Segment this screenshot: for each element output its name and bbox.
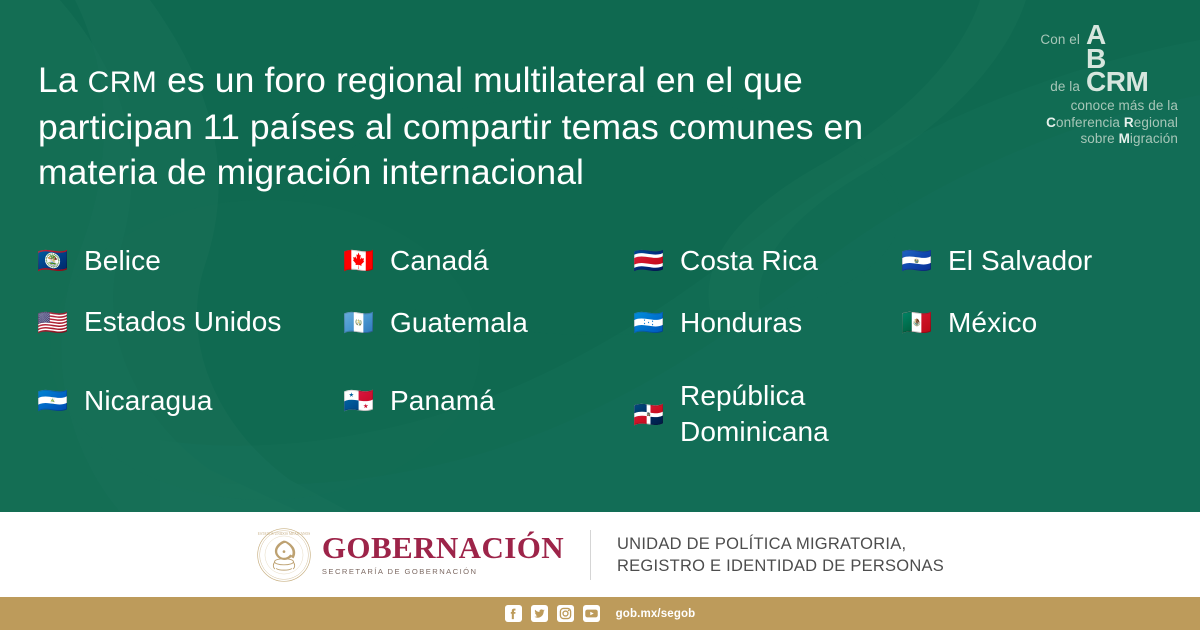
gobernacion-subtitle: SECRETARÍA DE GOBERNACIÓN [322,567,564,577]
flag-dominican-republic-icon: 🇩🇴 [630,402,668,427]
country-row-3: 🇳🇮 Nicaragua 🇵🇦 Panamá 🇩🇴 República Domi… [34,378,1174,458]
mexican-national-seal-icon: ESTADOS UNIDOS MEXICANOS [256,527,312,583]
footer-inner: ESTADOS UNIDOS MEXICANOS GOBERNACIÓN SEC… [256,527,944,583]
flag-el-salvador-icon: 🇸🇻 [898,248,936,273]
abc-crm-logo: Con el A B de la CRM conoce más de la Co… [982,22,1178,148]
headline-crm-acronym: CRM [88,66,158,99]
facebook-icon[interactable] [505,605,522,622]
unit-line-2: REGISTRO E IDENTIDAD DE PERSONAS [617,555,944,577]
abc-logo-tail: conoce más de la Conferencia Regional so… [982,98,1178,148]
abc-tail-initial-r: R [1124,115,1134,130]
country-item-belice: 🇧🇿 Belice [34,238,340,282]
abc-tail-egional: egional [1134,115,1178,130]
flag-nicaragua-icon: 🇳🇮 [34,388,72,413]
footer-bar: ESTADOS UNIDOS MEXICANOS GOBERNACIÓN SEC… [0,512,1200,597]
headline-line1-pre: La [38,60,88,100]
country-label-panama: Panamá [390,384,495,417]
youtube-icon[interactable] [583,605,600,622]
flag-canada-icon: 🇨🇦 [340,248,378,273]
country-item-guatemala: 🇬🇹 Guatemala [340,300,630,344]
abc-logo-row-2: B [982,46,1178,71]
flag-costa-rica-icon: 🇨🇷 [630,248,668,273]
poster-root: La CRM es un foro regional multilateral … [0,0,1200,630]
abc-logo-de-la: de la [1050,79,1080,95]
country-label-el-salvador: El Salvador [948,244,1092,277]
abc-tail-line-2: Conferencia Regional [982,115,1178,132]
country-label-republica-dominicana: República Dominicana [680,378,870,450]
unit-name: UNIDAD DE POLÍTICA MIGRATORIA, REGISTRO … [591,533,944,577]
abc-logo-letters-crm: CRM [1086,69,1178,94]
participating-countries-grid: 🇧🇿 Belice 🇨🇦 Canadá 🇨🇷 Costa Rica 🇸🇻 El … [34,238,1174,458]
country-label-honduras: Honduras [680,306,802,339]
flag-honduras-icon: 🇭🇳 [630,310,668,335]
country-item-canada: 🇨🇦 Canadá [340,238,630,282]
abc-tail-igracion: igración [1130,131,1178,146]
country-item-panama: 🇵🇦 Panamá [340,378,630,422]
country-item-nicaragua: 🇳🇮 Nicaragua [34,378,340,422]
country-item-empty [898,378,1166,422]
country-label-mexico: México [948,306,1037,339]
country-label-canada: Canadá [390,244,489,277]
country-label-belice: Belice [84,244,161,277]
flag-united-states-icon: 🇺🇸 [34,310,72,335]
country-item-mexico: 🇲🇽 México [898,300,1166,344]
abc-logo-row-3: de la CRM [982,69,1178,95]
abc-tail-initial-m: M [1119,131,1130,146]
gobmx-url[interactable]: gob.mx/segob [616,608,696,620]
abc-logo-row-1: Con el A [982,22,1178,48]
gobernacion-title: GOBERNACIÓN [322,532,564,564]
country-label-nicaragua: Nicaragua [84,384,213,417]
flag-panama-icon: 🇵🇦 [340,388,378,413]
flag-mexico-icon: 🇲🇽 [898,310,936,335]
country-item-republica-dominicana: 🇩🇴 República Dominicana [630,378,898,450]
country-item-estados-unidos: 🇺🇸 Estados Unidos [34,300,340,344]
country-row-2: 🇺🇸 Estados Unidos 🇬🇹 Guatemala 🇭🇳 Hondur… [34,300,1174,378]
country-item-el-salvador: 🇸🇻 El Salvador [898,238,1166,282]
gobernacion-wordmark: GOBERNACIÓN SECRETARÍA DE GOBERNACIÓN [322,532,590,577]
country-label-guatemala: Guatemala [390,306,528,339]
headline-line1-post: es un foro regional multilateral en el q… [157,60,803,100]
page-headline: La CRM es un foro regional multilateral … [38,58,938,195]
social-bar: gob.mx/segob [0,597,1200,630]
flag-belize-icon: 🇧🇿 [34,248,72,273]
abc-tail-line-3: sobre Migración [982,131,1178,148]
abc-tail-onferencia: onferencia [1056,115,1124,130]
twitter-icon[interactable] [531,605,548,622]
abc-tail-initial-c: C [1046,115,1056,130]
svg-text:ESTADOS UNIDOS MEXICANOS: ESTADOS UNIDOS MEXICANOS [258,531,310,535]
country-label-costa-rica: Costa Rica [680,244,818,277]
abc-tail-sobre: sobre [1080,131,1118,146]
headline-line2: participan 11 países al compartir temas … [38,107,814,147]
country-item-honduras: 🇭🇳 Honduras [630,300,898,344]
green-stage: La CRM es un foro regional multilateral … [0,0,1200,512]
instagram-icon[interactable] [557,605,574,622]
flag-guatemala-icon: 🇬🇹 [340,310,378,335]
abc-logo-con-el: Con el [1040,32,1080,48]
country-row-1: 🇧🇿 Belice 🇨🇦 Canadá 🇨🇷 Costa Rica 🇸🇻 El … [34,238,1174,300]
abc-tail-line-1: conoce más de la [982,98,1178,115]
country-item-costa-rica: 🇨🇷 Costa Rica [630,238,898,282]
unit-line-1: UNIDAD DE POLÍTICA MIGRATORIA, [617,533,944,555]
country-label-estados-unidos: Estados Unidos [84,304,282,340]
